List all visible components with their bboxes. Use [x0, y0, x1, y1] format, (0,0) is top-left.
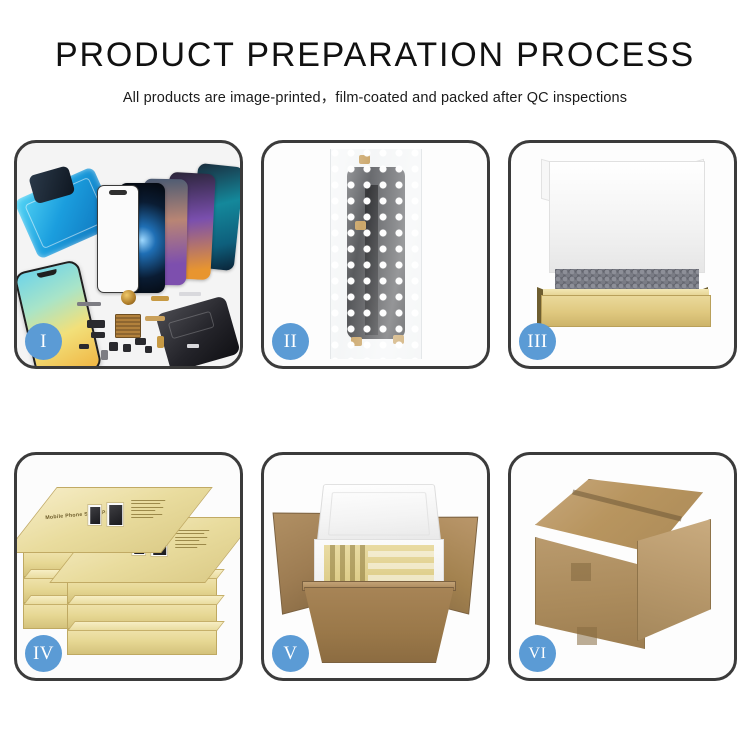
sealed-carton-graphic	[527, 479, 717, 654]
step-2-illustration: II	[264, 143, 487, 366]
step-2-bubble-wrap: II	[261, 140, 490, 369]
mailer-white-lid-graphic	[549, 161, 705, 273]
step-4-illustration: Mobile Phone Spare Parts Mobile Phone Sp…	[17, 455, 240, 678]
step-5-badge: V	[272, 635, 309, 672]
phone-lineup-graphic	[89, 165, 239, 297]
label-product-window	[87, 504, 102, 526]
step-4-badge: IV	[25, 635, 62, 672]
page-header: PRODUCT PREPARATION PROCESS All products…	[0, 0, 750, 107]
step-1-illustration: I	[17, 143, 240, 366]
plastic-sheen-graphic	[331, 149, 421, 359]
page-title: PRODUCT PREPARATION PROCESS	[0, 38, 750, 74]
step-3-inner-box: III	[508, 140, 737, 369]
label-product-window	[106, 502, 124, 527]
tempered-glass-front-graphic	[97, 185, 139, 293]
stacked-box	[67, 629, 217, 655]
step-3-badge: III	[519, 323, 556, 360]
step-6-sealed-carton: VI	[508, 452, 737, 681]
process-step-grid: I II I	[14, 140, 736, 681]
carton-body-graphic	[304, 587, 454, 663]
step-1-products: I	[14, 140, 243, 369]
label-spec-lines	[175, 530, 209, 550]
box-print-label: Mobile Phone Spare Parts	[45, 498, 171, 544]
step-4-box-stack: Mobile Phone Spare Parts Mobile Phone Sp…	[14, 452, 243, 681]
kraft-mailer-tray-graphic	[541, 295, 711, 327]
step-5-foam-carton: V	[261, 452, 490, 681]
foam-box-lid-graphic	[316, 484, 441, 545]
step-1-badge: I	[25, 323, 62, 360]
step-2-badge: II	[272, 323, 309, 360]
carton-crease-mark-graphic	[571, 563, 591, 581]
page-subtitle: All products are image-printed，film-coat…	[0, 86, 750, 107]
step-6-illustration: VI	[511, 455, 734, 678]
step-3-illustration: III	[511, 143, 734, 366]
bubble-wrap-package-graphic	[330, 149, 422, 359]
step-6-badge: VI	[519, 635, 556, 672]
carton-crease-mark-graphic	[577, 627, 597, 645]
spare-parts-flatlay-graphic	[75, 288, 207, 362]
label-spec-lines	[131, 500, 165, 520]
step-5-illustration: V	[264, 455, 487, 678]
